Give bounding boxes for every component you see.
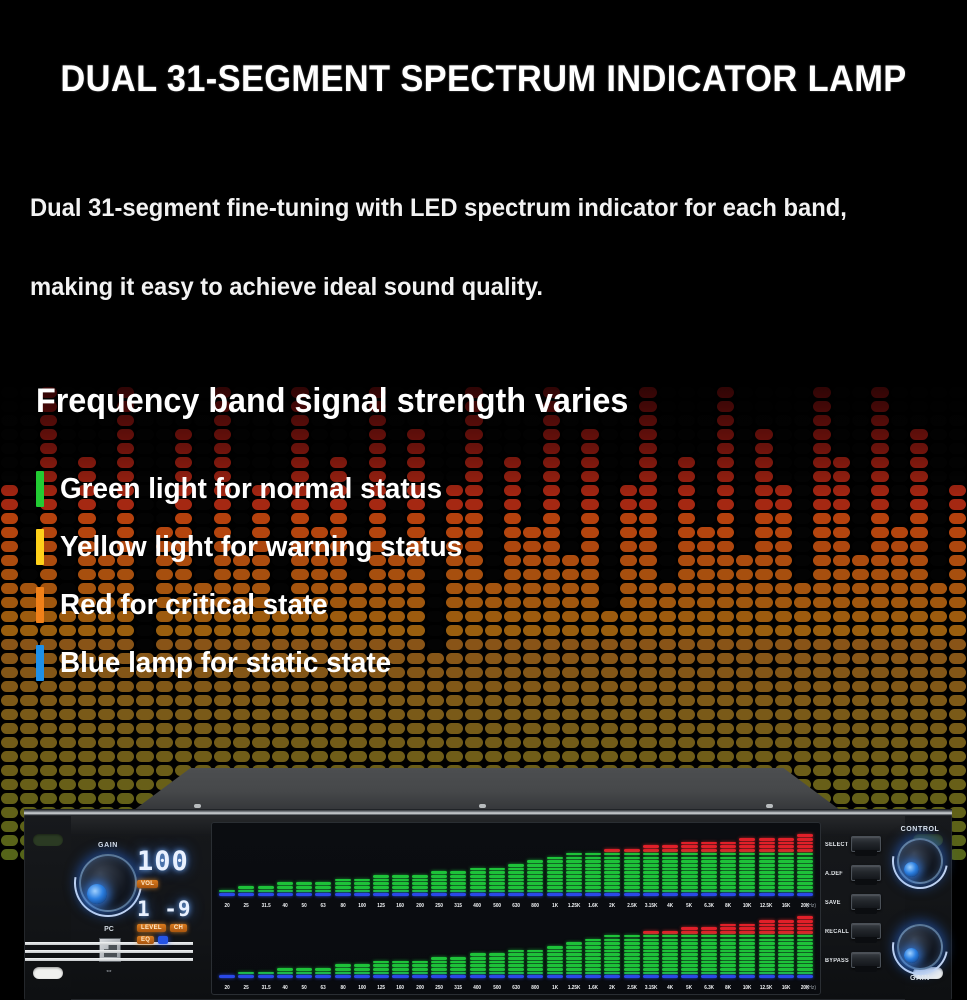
spectrum-led-segment	[720, 842, 736, 845]
background-eq-segment	[736, 443, 753, 454]
background-eq-segment	[891, 751, 908, 762]
spectrum-led-segment	[662, 939, 678, 942]
spectrum-led-segment	[778, 886, 794, 889]
spectrum-led-segment	[335, 882, 351, 885]
spectrum-led-segment	[778, 924, 794, 927]
spectrum-led-segment	[739, 879, 755, 882]
function-button-label: BYPASS	[825, 958, 849, 964]
frequency-label: 6.3K	[701, 985, 717, 991]
spectrum-led-segment	[701, 950, 717, 953]
spectrum-led-segment	[450, 975, 466, 978]
background-eq-segment	[156, 429, 173, 440]
spectrum-led-segment	[701, 972, 717, 975]
spectrum-led-segment	[662, 935, 678, 938]
background-eq-segment	[813, 639, 830, 650]
spectrum-band-column	[700, 927, 718, 978]
spectrum-led-segment	[778, 882, 794, 885]
spectrum-led-segment	[681, 868, 697, 871]
background-eq-segment	[813, 583, 830, 594]
background-eq-segment	[601, 443, 618, 454]
background-eq-segment	[697, 387, 714, 398]
spectrum-led-segment	[701, 879, 717, 882]
background-eq-segment	[794, 485, 811, 496]
background-eq-segment	[175, 443, 192, 454]
background-eq-segment	[697, 653, 714, 664]
background-eq-segment	[620, 443, 637, 454]
spectrum-led-segment	[373, 968, 389, 971]
background-eq-segment	[620, 429, 637, 440]
background-eq-segment	[697, 639, 714, 650]
background-eq-segment	[871, 611, 888, 622]
spectrum-led-segment	[450, 871, 466, 874]
background-eq-segment	[20, 709, 37, 720]
pc-usb-port[interactable]: PC ⇔	[87, 928, 131, 972]
background-eq-segment	[504, 709, 521, 720]
spectrum-led-segment	[759, 927, 775, 930]
background-eq-segment	[949, 443, 966, 454]
background-eq-segment	[678, 499, 695, 510]
spectrum-led-segment	[739, 950, 755, 953]
background-eq-segment	[813, 471, 830, 482]
background-eq-segment	[678, 415, 695, 426]
background-eq-segment	[59, 443, 76, 454]
spectrum-led-segment	[412, 882, 428, 885]
background-eq-segment	[755, 681, 772, 692]
spectrum-led-segment	[373, 875, 389, 878]
spectrum-led-segment	[431, 871, 447, 874]
spectrum-led-segment	[681, 946, 697, 949]
background-eq-segment	[659, 401, 676, 412]
background-eq-segment	[98, 443, 115, 454]
spectrum-led-segment	[739, 953, 755, 956]
spectrum-led-segment	[585, 886, 601, 889]
function-button-adef[interactable]: A.DEF	[825, 863, 891, 892]
background-eq-segment	[852, 681, 869, 692]
spectrum-led-segment	[354, 886, 370, 889]
background-eq-segment	[407, 695, 424, 706]
background-eq-segment	[775, 597, 792, 608]
spectrum-led-segment	[277, 968, 293, 971]
spectrum-band-column	[661, 845, 679, 896]
background-eq-segment	[910, 429, 927, 440]
background-eq-segment	[755, 569, 772, 580]
background-eq-segment	[272, 695, 289, 706]
background-eq-segment	[833, 499, 850, 510]
spectrum-led-segment	[258, 972, 274, 975]
function-button-key[interactable]	[851, 865, 881, 881]
frequency-unit-label: (Hz)	[807, 985, 816, 991]
background-eq-segment	[891, 723, 908, 734]
background-eq-segment	[871, 527, 888, 538]
top-screw-right	[766, 804, 773, 808]
spectrum-led-segment	[238, 890, 254, 893]
background-eq-segment	[717, 443, 734, 454]
background-eq-segment	[369, 429, 386, 440]
spectrum-led-segment	[258, 890, 274, 893]
background-eq-segment	[446, 751, 463, 762]
background-eq-segment	[717, 471, 734, 482]
spectrum-led-segment	[315, 968, 331, 971]
spectrum-led-segment	[566, 868, 582, 871]
spectrum-led-segment	[470, 975, 486, 978]
spectrum-led-segment	[739, 868, 755, 871]
spectrum-led-segment	[643, 964, 659, 967]
control-knob[interactable]: CONTROL	[897, 838, 943, 884]
channel-badge: CH	[170, 924, 187, 932]
spectrum-led-segment	[624, 964, 640, 967]
background-eq-segment	[852, 429, 869, 440]
background-eq-segment	[678, 653, 695, 664]
background-eq-segment	[601, 695, 618, 706]
spectrum-led-segment	[720, 953, 736, 956]
spectrum-led-segment	[547, 860, 563, 863]
spectrum-led-segment	[296, 882, 312, 885]
spectrum-led-segment	[681, 890, 697, 893]
spectrum-band-column	[719, 842, 737, 896]
spectrum-led-segment	[624, 893, 640, 896]
background-eq-segment	[852, 499, 869, 510]
spectrum-led-segment	[778, 860, 794, 863]
spectrum-led-segment	[797, 942, 813, 945]
background-eq-segment	[581, 751, 598, 762]
background-eq-segment	[156, 737, 173, 748]
function-button-key[interactable]	[851, 894, 881, 910]
spectrum-led-segment	[566, 950, 582, 953]
spectrum-led-segment	[585, 875, 601, 878]
background-eq-segment	[910, 569, 927, 580]
spectrum-led-segment	[662, 868, 678, 871]
background-eq-segment	[930, 555, 947, 566]
spectrum-led-segment	[759, 924, 775, 927]
spectrum-led-segment	[624, 860, 640, 863]
spectrum-led-segment	[681, 842, 697, 845]
spectrum-led-segment	[759, 939, 775, 942]
background-eq-segment	[910, 555, 927, 566]
background-eq-segment	[581, 429, 598, 440]
background-eq-segment	[349, 737, 366, 748]
background-eq-segment	[485, 429, 502, 440]
background-eq-segment	[407, 737, 424, 748]
background-eq-segment	[1, 597, 18, 608]
background-eq-segment	[813, 443, 830, 454]
background-eq-segment	[272, 723, 289, 734]
page-title: DUAL 31-SEGMENT SPECTRUM INDICATOR LAMP	[34, 58, 933, 100]
background-eq-segment	[949, 639, 966, 650]
background-eq-segment	[59, 695, 76, 706]
background-eq-segment	[117, 751, 134, 762]
spectrum-band-column	[295, 968, 313, 978]
background-eq-segment	[852, 723, 869, 734]
function-button-save[interactable]: SAVE	[825, 892, 891, 921]
description-line-1: Dual 31-segment fine-tuning with LED spe…	[30, 194, 899, 223]
background-eq-segment	[910, 485, 927, 496]
spectrum-led-segment	[470, 879, 486, 882]
spectrum-led-segment	[547, 875, 563, 878]
spectrum-led-segment	[720, 864, 736, 867]
background-eq-segment	[697, 401, 714, 412]
spectrum-led-segment	[489, 961, 505, 964]
background-eq-segment	[427, 737, 444, 748]
background-eq-segment	[794, 667, 811, 678]
background-eq-segment	[330, 709, 347, 720]
background-eq-segment	[562, 709, 579, 720]
function-button-bypass[interactable]: BYPASS	[825, 950, 891, 979]
spectrum-led-segment	[778, 857, 794, 860]
spectrum-led-segment	[739, 961, 755, 964]
gain-knob-right[interactable]: GAIN	[897, 924, 943, 970]
spectrum-band-column	[546, 946, 564, 978]
spectrum-band-column	[430, 957, 448, 978]
spectrum-led-segment	[392, 972, 408, 975]
background-eq-segment	[852, 471, 869, 482]
background-eq-segment	[446, 695, 463, 706]
background-eq-segment	[1, 527, 18, 538]
background-eq-segment	[813, 415, 830, 426]
background-eq-segment	[194, 695, 211, 706]
background-eq-segment	[813, 401, 830, 412]
background-eq-segment	[930, 583, 947, 594]
spectrum-led-segment	[778, 942, 794, 945]
background-eq-segment	[833, 751, 850, 762]
background-eq-segment	[755, 541, 772, 552]
spectrum-band-column	[353, 964, 371, 978]
background-eq-segment	[871, 723, 888, 734]
spectrum-led-segment	[681, 853, 697, 856]
background-eq-segment	[930, 485, 947, 496]
background-eq-segment	[736, 583, 753, 594]
spectrum-led-segment	[662, 845, 678, 848]
spectrum-led-segment	[566, 957, 582, 960]
background-eq-segment	[891, 513, 908, 524]
background-eq-segment	[871, 471, 888, 482]
background-eq-segment	[949, 709, 966, 720]
background-eq-segment	[736, 499, 753, 510]
spectrum-led-segment	[797, 845, 813, 848]
background-eq-segment	[1, 443, 18, 454]
spectrum-led-segment	[604, 968, 620, 971]
background-eq-segment	[813, 723, 830, 734]
spectrum-led-segment	[701, 968, 717, 971]
gain-knob-left-body	[79, 854, 137, 912]
background-eq-segment	[388, 709, 405, 720]
spectrum-led-segment	[797, 864, 813, 867]
background-eq-segment	[717, 625, 734, 636]
spectrum-band-column	[276, 882, 294, 896]
background-eq-segment	[330, 443, 347, 454]
background-eq-segment	[1, 541, 18, 552]
background-eq-segment	[175, 737, 192, 748]
spectrum-led-segment	[604, 871, 620, 874]
spectrum-led-segment	[335, 893, 351, 896]
background-eq-segment	[910, 695, 927, 706]
spectrum-led-segment	[797, 875, 813, 878]
background-eq-segment	[1, 499, 18, 510]
background-eq-segment	[465, 443, 482, 454]
function-button-label: SELECT	[825, 842, 848, 848]
gain-knob-left[interactable]: GAIN	[79, 854, 137, 912]
spectrum-led-segment	[643, 950, 659, 953]
spectrum-led-segment	[470, 875, 486, 878]
spectrum-led-segment	[431, 882, 447, 885]
spectrum-led-segment	[759, 845, 775, 848]
spectrum-led-segment	[373, 972, 389, 975]
spectrum-band-column	[584, 939, 602, 978]
frequency-label: 4K	[662, 985, 678, 991]
background-eq-segment	[794, 513, 811, 524]
background-eq-segment	[755, 709, 772, 720]
spectrum-led-segment	[566, 882, 582, 885]
spectrum-led-segment	[797, 935, 813, 938]
background-eq-segment	[659, 569, 676, 580]
spectrum-led-segment	[258, 975, 274, 978]
function-button-select[interactable]: SELECT	[825, 834, 891, 863]
spectrum-led-segment	[412, 879, 428, 882]
spectrum-led-segment	[778, 975, 794, 978]
background-eq-segment	[891, 611, 908, 622]
spectrum-led-segment	[585, 868, 601, 871]
background-eq-segment	[930, 611, 947, 622]
spectrum-led-segment	[797, 964, 813, 967]
background-eq-segment	[485, 723, 502, 734]
background-eq-segment	[78, 737, 95, 748]
spectrum-row-lower: 202531.540506380100125160200250315400500…	[218, 909, 814, 991]
background-eq-segment	[659, 555, 676, 566]
background-eq-segment	[717, 387, 734, 398]
spectrum-led-segment	[431, 886, 447, 889]
background-eq-segment	[311, 709, 328, 720]
spectrum-band-column	[700, 842, 718, 896]
spectrum-led-segment	[662, 853, 678, 856]
spectrum-led-segment	[585, 953, 601, 956]
background-eq-segment	[813, 667, 830, 678]
background-eq-segment	[891, 499, 908, 510]
background-eq-segment	[794, 457, 811, 468]
background-eq-segment	[736, 401, 753, 412]
spectrum-led-segment	[489, 886, 505, 889]
background-eq-segment	[581, 443, 598, 454]
background-eq-segment	[581, 695, 598, 706]
spectrum-band-column	[334, 964, 352, 978]
background-eq-segment	[678, 583, 695, 594]
background-eq-segment	[755, 653, 772, 664]
spectrum-led-segment	[681, 875, 697, 878]
spectrum-led-segment	[662, 893, 678, 896]
background-eq-segment	[736, 471, 753, 482]
spectrum-led-segment	[662, 950, 678, 953]
background-eq-segment	[78, 751, 95, 762]
background-eq-segment	[485, 751, 502, 762]
spectrum-led-segment	[739, 871, 755, 874]
background-eq-segment	[543, 723, 560, 734]
background-eq-segment	[871, 667, 888, 678]
spectrum-led-segment	[624, 868, 640, 871]
spectrum-led-segment	[759, 942, 775, 945]
spectrum-led-segment	[450, 972, 466, 975]
spectrum-led-segment	[662, 957, 678, 960]
spectrum-led-segment	[739, 939, 755, 942]
spectrum-led-segment	[489, 953, 505, 956]
spectrum-led-segment	[624, 879, 640, 882]
background-eq-segment	[697, 625, 714, 636]
spectrum-led-segment	[585, 853, 601, 856]
legend-item: Yellow light for warning status	[36, 518, 656, 576]
background-eq-segment	[891, 457, 908, 468]
background-eq-segment	[775, 653, 792, 664]
spectrum-led-segment	[643, 860, 659, 863]
function-button-key[interactable]	[851, 836, 881, 852]
function-button-key[interactable]	[851, 923, 881, 939]
background-eq-segment	[717, 695, 734, 706]
background-eq-segment	[659, 639, 676, 650]
background-eq-segment	[697, 415, 714, 426]
spectrum-band-column	[777, 838, 795, 896]
spectrum-led-segment	[662, 857, 678, 860]
background-eq-segment	[291, 695, 308, 706]
background-eq-segment	[852, 597, 869, 608]
spectrum-band-column	[738, 924, 756, 978]
spectrum-led-segment	[335, 972, 351, 975]
background-eq-segment	[678, 751, 695, 762]
background-eq-segment	[794, 471, 811, 482]
background-eq-segment	[523, 695, 540, 706]
spectrum-band-column	[603, 935, 621, 978]
spectrum-band-column	[680, 927, 698, 978]
background-eq-segment	[717, 569, 734, 580]
spectrum-led-segment	[508, 975, 524, 978]
background-eq-segment	[1, 401, 18, 412]
spectrum-led-segment	[547, 879, 563, 882]
background-eq-segment	[930, 737, 947, 748]
background-eq-segment	[755, 737, 772, 748]
frequency-label: 630	[508, 985, 524, 991]
spectrum-led-segment	[759, 935, 775, 938]
background-eq-segment	[136, 723, 153, 734]
background-eq-segment	[659, 457, 676, 468]
spectrum-led-segment	[624, 968, 640, 971]
spectrum-led-segment	[681, 871, 697, 874]
background-eq-segment	[98, 723, 115, 734]
background-eq-segment	[813, 499, 830, 510]
background-eq-segment	[291, 429, 308, 440]
usb-icon: ⇔	[87, 966, 131, 975]
background-eq-segment	[40, 723, 57, 734]
background-eq-segment	[156, 751, 173, 762]
background-eq-segment	[639, 443, 656, 454]
spectrum-led-segment	[412, 964, 428, 967]
spectrum-band-column	[623, 935, 641, 978]
background-eq-segment	[949, 597, 966, 608]
spectrum-led-segment	[412, 968, 428, 971]
function-button-recall[interactable]: RECALL	[825, 921, 891, 950]
frequency-label: 40	[277, 985, 293, 991]
background-eq-segment	[639, 387, 656, 398]
legend-color-swatch	[36, 645, 44, 681]
spectrum-led-segment	[778, 845, 794, 848]
equalizer-device: GAIN PC ⇔ 100 VOL 1 -9	[8, 768, 959, 1000]
function-button-key[interactable]	[851, 952, 881, 968]
spectrum-led-segment	[662, 975, 678, 978]
background-eq-segment	[736, 723, 753, 734]
background-eq-segment	[78, 695, 95, 706]
background-eq-segment	[910, 723, 927, 734]
spectrum-led-segment	[470, 968, 486, 971]
background-eq-segment	[813, 387, 830, 398]
background-eq-segment	[620, 723, 637, 734]
background-eq-segment	[659, 387, 676, 398]
background-eq-segment	[775, 555, 792, 566]
spectrum-led-segment	[489, 871, 505, 874]
background-eq-segment	[194, 709, 211, 720]
